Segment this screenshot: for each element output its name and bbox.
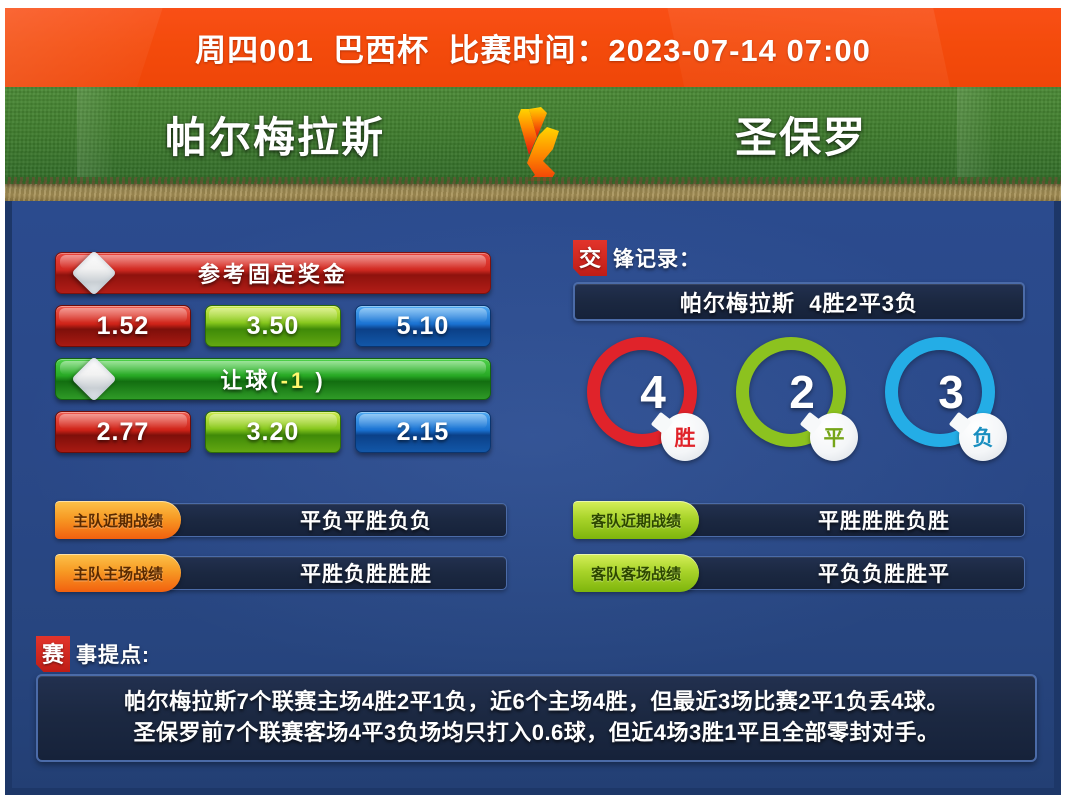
ring-win-badge-label: 胜 xyxy=(675,422,696,452)
ring-loss: 3 负 xyxy=(885,337,1010,477)
ring-draw-badge-label: 平 xyxy=(824,422,845,452)
analysis-line-1: 帕尔梅拉斯7个联赛主场4胜2平1负，近6个主场4胜，但最近3场比赛2平1负丢4球… xyxy=(52,686,1021,717)
head-to-head-rings: 4 胜 2 平 3 负 xyxy=(573,337,1025,477)
ring-win-badge: 胜 xyxy=(661,413,709,461)
analysis-title: 赛 事提点: xyxy=(36,639,1037,669)
content-panel: 参考固定奖金 1.52 3.50 5.10 让球(-1 ) xyxy=(5,201,1061,795)
analysis-section: 赛 事提点: 帕尔梅拉斯7个联赛主场4胜2平1负，近6个主场4胜，但最近3场比赛… xyxy=(36,639,1037,762)
ring-loss-badge-label: 负 xyxy=(973,422,994,452)
handicap-odds-row: 2.77 3.20 2.15 xyxy=(55,411,491,453)
handicap-odd-draw[interactable]: 3.20 xyxy=(205,411,341,453)
home-form-column: 主队近期战绩 平负平胜负负 主队主场战绩 平胜负胜胜胜 xyxy=(55,501,507,607)
fixed-odd-home[interactable]: 1.52 xyxy=(55,305,191,347)
home-recent-form-row: 主队近期战绩 平负平胜负负 xyxy=(55,501,507,539)
away-form-column: 客队近期战绩 平胜胜胜负胜 客队客场战绩 平负负胜胜平 xyxy=(573,501,1025,607)
head-to-head-label: 锋记录： xyxy=(613,243,701,273)
away-recent-form-tab: 客队近期战绩 xyxy=(573,501,699,539)
away-venue-form-tab: 客队客场战绩 xyxy=(573,554,699,592)
gloss-overlay xyxy=(359,414,487,429)
pitch-stripe-left xyxy=(77,87,111,183)
handicap-value: -1 xyxy=(281,368,307,393)
away-venue-form-row: 客队客场战绩 平负负胜胜平 xyxy=(573,554,1025,592)
fixed-odds-row: 1.52 3.50 5.10 xyxy=(55,305,491,347)
fixed-odds-header: 参考固定奖金 xyxy=(55,252,491,294)
gloss-overlay xyxy=(209,414,337,429)
away-team-name: 圣保罗 xyxy=(651,109,951,167)
head-to-head-summary: 帕尔梅拉斯 4胜2平3负 xyxy=(573,282,1025,321)
ring-loss-badge: 负 xyxy=(959,413,1007,461)
pitch-stripe-right xyxy=(957,87,991,183)
handicap-odds-header: 让球(-1 ) xyxy=(55,358,491,400)
home-venue-form-value: 平胜负胜胜胜 xyxy=(165,556,507,590)
handicap-title-suffix: ) xyxy=(306,368,325,393)
home-venue-form-row: 主队主场战绩 平胜负胜胜胜 xyxy=(55,554,507,592)
away-venue-form-value: 平负负胜胜平 xyxy=(683,556,1025,590)
ring-draw-badge: 平 xyxy=(810,413,858,461)
fixed-odd-draw[interactable]: 3.50 xyxy=(205,305,341,347)
head-to-head-title: 交 锋记录： xyxy=(573,243,1025,273)
gloss-overlay xyxy=(59,308,187,323)
handicap-odd-away[interactable]: 2.15 xyxy=(355,411,491,453)
home-venue-form-tab: 主队主场战绩 xyxy=(55,554,181,592)
pitch-dirt-strip xyxy=(5,181,1061,201)
match-header-title: 周四001 巴西杯 比赛时间：2023-07-14 07:00 xyxy=(5,8,1061,87)
home-recent-form-value: 平负平胜负负 xyxy=(165,503,507,537)
head-to-head-section: 交 锋记录： 帕尔梅拉斯 4胜2平3负 4 胜 2 平 3 负 xyxy=(573,243,1025,477)
analysis-line-2: 圣保罗前7个联赛客场4平3负场均只打入0.6球，但近4场3胜1平且全部零封对手。 xyxy=(52,717,1021,748)
ring-draw: 2 平 xyxy=(736,337,861,477)
match-preview-card: 周四001 巴西杯 比赛时间：2023-07-14 07:00 帕尔梅拉斯 xyxy=(5,8,1061,795)
analysis-tag: 赛 xyxy=(36,636,70,672)
home-recent-form-tab: 主队近期战绩 xyxy=(55,501,181,539)
gloss-overlay xyxy=(359,308,487,323)
odds-section: 参考固定奖金 1.52 3.50 5.10 让球(-1 ) xyxy=(55,252,491,464)
fixed-odd-away[interactable]: 5.10 xyxy=(355,305,491,347)
away-recent-form-value: 平胜胜胜负胜 xyxy=(683,503,1025,537)
fixed-odds-title: 参考固定奖金 xyxy=(198,257,348,289)
gloss-overlay xyxy=(59,414,187,429)
teams-banner: 帕尔梅拉斯 圣保罗 xyxy=(5,87,1061,201)
ring-win: 4 胜 xyxy=(587,337,712,477)
diamond-icon xyxy=(71,356,116,401)
match-header: 周四001 巴西杯 比赛时间：2023-07-14 07:00 xyxy=(5,8,1061,87)
analysis-label: 事提点: xyxy=(76,639,150,669)
handicap-title-prefix: 让球( xyxy=(220,368,280,393)
home-team-name: 帕尔梅拉斯 xyxy=(125,109,425,167)
analysis-box: 帕尔梅拉斯7个联赛主场4胜2平1负，近6个主场4胜，但最近3场比赛2平1负丢4球… xyxy=(36,674,1037,762)
handicap-title: 让球(-1 ) xyxy=(220,363,325,395)
head-to-head-tag: 交 xyxy=(573,240,607,276)
handicap-odd-home[interactable]: 2.77 xyxy=(55,411,191,453)
away-recent-form-row: 客队近期战绩 平胜胜胜负胜 xyxy=(573,501,1025,539)
gloss-overlay xyxy=(209,308,337,323)
form-section: 主队近期战绩 平负平胜负负 主队主场战绩 平胜负胜胜胜 客队近期战绩 平胜胜胜负… xyxy=(12,501,1061,613)
diamond-icon xyxy=(71,250,116,295)
